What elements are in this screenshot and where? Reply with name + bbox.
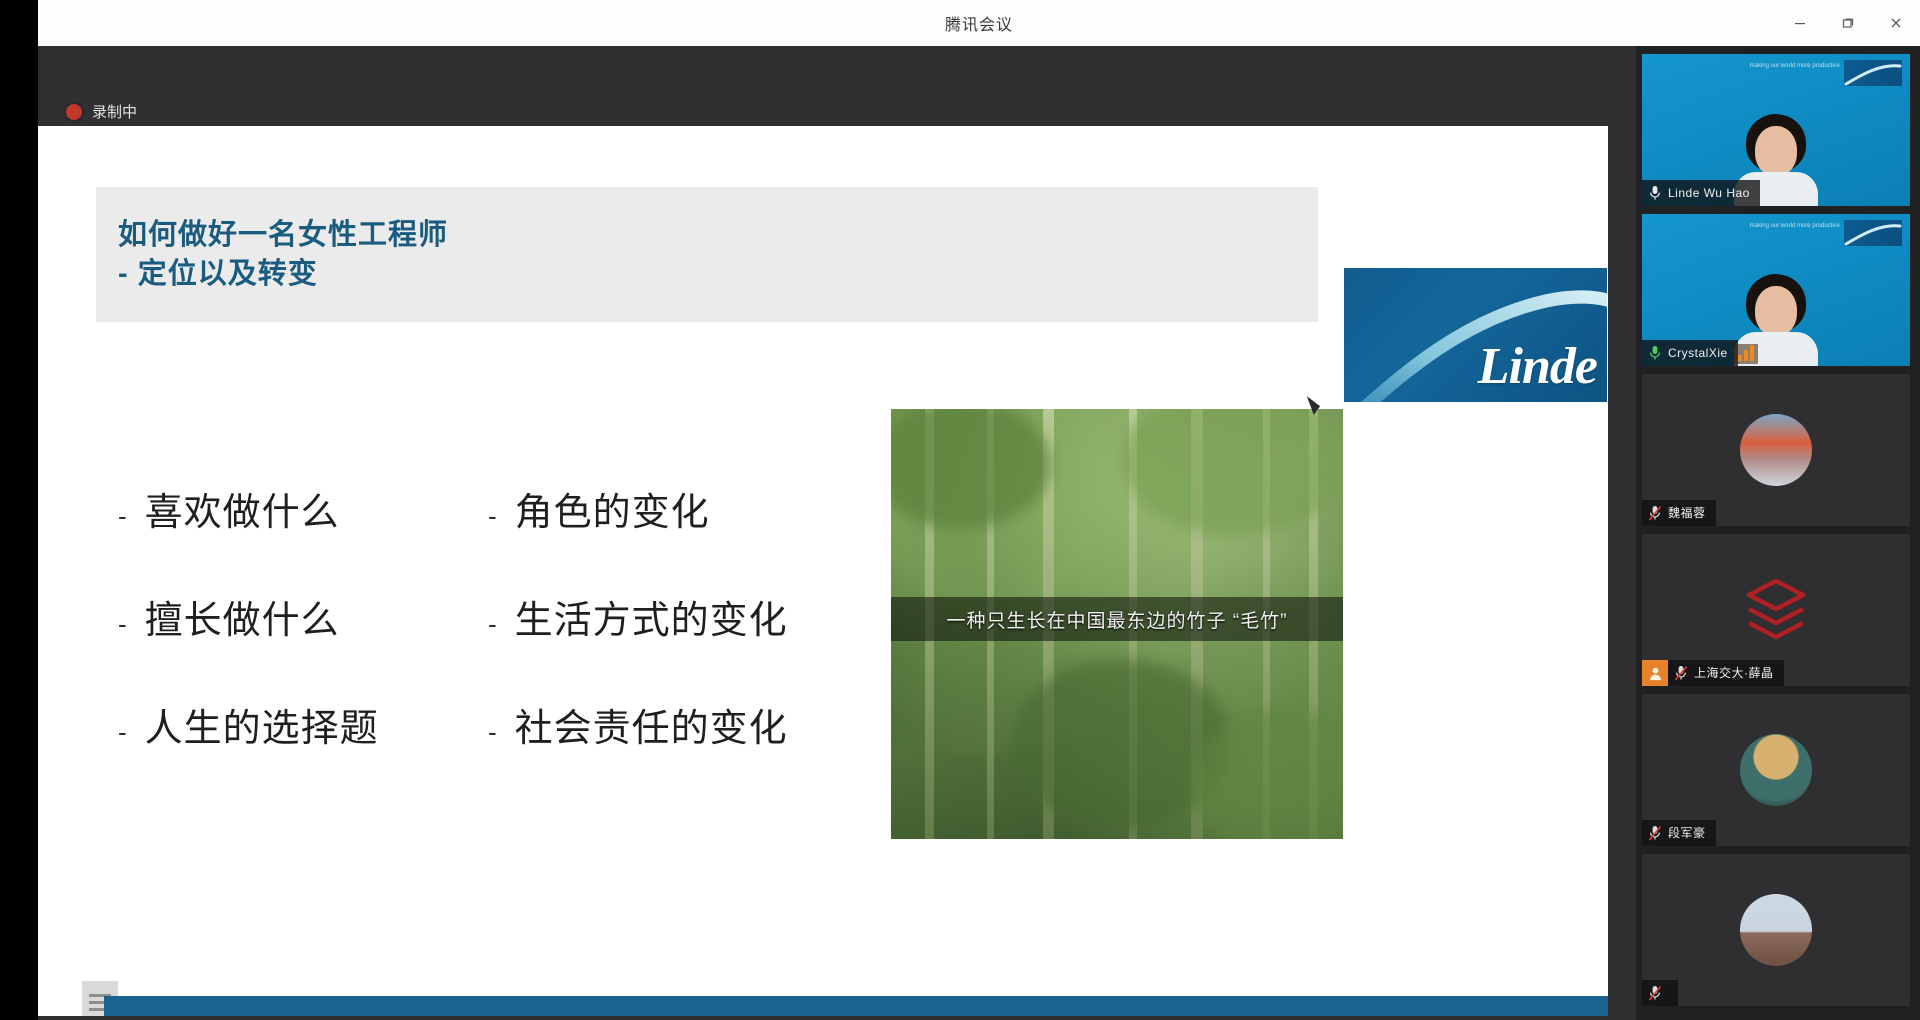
microphone-muted-icon xyxy=(1648,505,1662,521)
slide-bullet-lists: - 喜欢做什么 - 擅长做什么 - 人生的选择题 xyxy=(118,481,858,805)
bullet-label: 喜欢做什么 xyxy=(145,481,340,536)
company-logo-icon xyxy=(1737,571,1815,649)
tencent-meeting-window: 腾讯会议 xyxy=(0,0,1920,1020)
microphone-active-icon xyxy=(1648,345,1662,361)
slide-title-line2: - 定位以及转变 xyxy=(118,255,1318,294)
dash-icon: - xyxy=(118,707,127,745)
dash-icon: - xyxy=(488,491,497,529)
participant-name-badge: 上海交大·薛晶 xyxy=(1668,660,1784,686)
dash-icon: - xyxy=(118,599,127,637)
participant-name-badge: Linde Wu Hao xyxy=(1642,180,1760,206)
photo-caption-text: 一种只生长在中国最东边的竹子 “毛竹” xyxy=(947,606,1288,633)
photo-caption: 一种只生长在中国最东边的竹子 “毛竹” xyxy=(891,597,1343,641)
close-button[interactable] xyxy=(1872,0,1920,46)
list-item: - 喜欢做什么 xyxy=(118,481,488,589)
meeting-body: 录制中 如何做好一名女性工程师 - 定位以及转变 xyxy=(38,46,1920,1020)
participant-name: 段军豪 xyxy=(1668,824,1706,841)
slide-banner: 不同的阶段不同的答案 xyxy=(104,996,1608,1016)
shared-screen-area[interactable]: 录制中 如何做好一名女性工程师 - 定位以及转变 xyxy=(38,46,1636,1020)
window-title: 腾讯会议 xyxy=(945,11,1013,35)
bamboo-photo: 一种只生长在中国最东边的竹子 “毛竹” xyxy=(891,409,1343,839)
participant-name: Linde Wu Hao xyxy=(1668,186,1750,200)
window-controls xyxy=(1776,0,1920,46)
participant-name: 上海交大·薛晶 xyxy=(1694,664,1774,681)
presentation-slide: 如何做好一名女性工程师 - 定位以及转变 xyxy=(38,126,1608,1016)
microphone-muted-icon xyxy=(1648,985,1662,1001)
recording-indicator: 录制中 xyxy=(66,101,137,122)
audio-level-indicator xyxy=(1734,344,1758,364)
virtual-bg-tagline: making our world more productive xyxy=(1750,62,1840,71)
participant-filmstrip[interactable]: making our world more productive xyxy=(1636,46,1920,1020)
participant-name: 魏福蓉 xyxy=(1668,504,1706,521)
person-icon xyxy=(1648,666,1663,681)
avatar xyxy=(1740,734,1812,806)
minimize-button[interactable] xyxy=(1776,0,1824,46)
participant-tile[interactable]: making our world more productive xyxy=(1642,54,1910,206)
bullet-label: 社会责任的变化 xyxy=(515,697,788,752)
microphone-muted-icon xyxy=(1648,825,1662,841)
linde-logo-small xyxy=(1844,60,1902,86)
slide-header: 如何做好一名女性工程师 - 定位以及转变 xyxy=(96,187,1318,322)
list-item: - 擅长做什么 xyxy=(118,589,488,697)
dash-icon: - xyxy=(488,599,497,637)
bullet-label: 擅长做什么 xyxy=(145,589,340,644)
close-icon xyxy=(1889,16,1903,30)
participant-name-badge xyxy=(1642,980,1678,1006)
list-item: - 人生的选择题 xyxy=(118,697,488,805)
bullet-column-right: - 角色的变化 - 生活方式的变化 - 社会责任的变化 xyxy=(488,481,858,805)
linde-wordmark: Linde xyxy=(1478,337,1597,396)
avatar xyxy=(1740,414,1812,486)
linde-logo: Linde xyxy=(1344,268,1607,402)
participant-tile[interactable] xyxy=(1642,854,1910,1006)
linde-logo-small xyxy=(1844,220,1902,246)
microphone-icon xyxy=(1648,185,1662,201)
bullet-label: 生活方式的变化 xyxy=(515,589,788,644)
restore-icon xyxy=(1841,16,1855,30)
host-avatar-badge xyxy=(1642,660,1668,686)
list-item: - 生活方式的变化 xyxy=(488,589,858,697)
dash-icon: - xyxy=(488,707,497,745)
participant-tile[interactable]: 上海交大·薛晶 xyxy=(1642,534,1910,686)
avatar xyxy=(1740,894,1812,966)
bullet-label: 角色的变化 xyxy=(515,481,710,536)
participant-name: CrystalXie xyxy=(1668,346,1728,360)
linde-arc-icon xyxy=(1844,60,1902,86)
bullet-column-left: - 喜欢做什么 - 擅长做什么 - 人生的选择题 xyxy=(118,481,488,805)
record-dot-icon xyxy=(66,104,82,120)
linde-arc-icon xyxy=(1844,220,1902,246)
restore-button[interactable] xyxy=(1824,0,1872,46)
participant-tile[interactable]: 段军豪 xyxy=(1642,694,1910,846)
dash-icon: - xyxy=(118,491,127,529)
participant-name-badge: 魏福蓉 xyxy=(1642,500,1716,526)
microphone-muted-icon xyxy=(1674,665,1688,681)
list-item: - 社会责任的变化 xyxy=(488,697,858,805)
window-titlebar: 腾讯会议 xyxy=(38,0,1920,46)
participant-tile[interactable]: 魏福蓉 xyxy=(1642,374,1910,526)
slide-title-line1: 如何做好一名女性工程师 xyxy=(118,216,1318,255)
participant-name-badge: CrystalXie xyxy=(1642,340,1738,366)
minimize-icon xyxy=(1793,16,1807,30)
list-item: - 角色的变化 xyxy=(488,481,858,589)
virtual-bg-tagline: making our world more productive xyxy=(1750,222,1840,231)
bullet-label: 人生的选择题 xyxy=(145,697,379,752)
participant-tile[interactable]: making our world more productive xyxy=(1642,214,1910,366)
recording-label: 录制中 xyxy=(92,101,137,122)
participant-name-badge: 段军豪 xyxy=(1642,820,1716,846)
